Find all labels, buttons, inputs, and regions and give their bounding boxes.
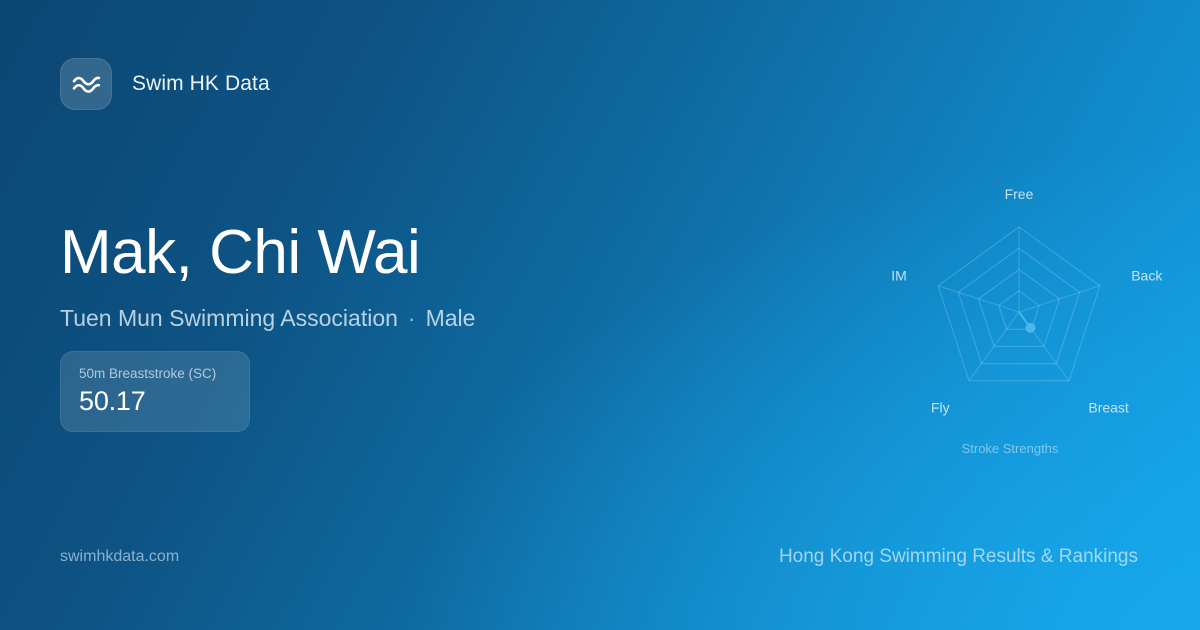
brand-lockup[interactable]: Swim HK Data [60,58,270,110]
radar-spoke [1019,286,1100,312]
radar-point-breast [1025,323,1035,333]
stroke-strengths-radar-chart: FreeBackBreastFlyIM Stroke Strengths [860,176,1160,472]
radar-label-back: Back [1131,268,1163,284]
radar-data-points [1025,323,1035,333]
page-title: Mak, Chi Wai [60,222,475,284]
og-card: Swim HK Data Mak, Chi Wai Tuen Mun Swimm… [0,0,1200,630]
wave-icon [60,58,112,110]
athlete-club: Tuen Mun Swimming Association [60,305,398,331]
radar-label-fly: Fly [931,399,950,415]
radar-label-free: Free [1005,186,1034,202]
radar-label-im: IM [891,268,907,284]
radar-spoke [938,286,1019,312]
footer-site-url[interactable]: swimhkdata.com [60,548,179,566]
headline-block: Mak, Chi Wai Tuen Mun Swimming Associati… [60,222,475,331]
stat-card-value: 50.17 [79,388,231,415]
stat-card-label: 50m Breaststroke (SC) [79,366,231,381]
athlete-meta: Tuen Mun Swimming Association·Male [60,306,475,331]
radar-caption: Stroke Strengths [860,441,1160,456]
footer-tagline: Hong Kong Swimming Results & Rankings [779,546,1138,568]
meta-separator: · [398,305,426,331]
radar-label-breast: Breast [1088,399,1129,415]
athlete-gender: Male [426,305,476,331]
brand-name: Swim HK Data [132,72,270,96]
radar-svg: FreeBackBreastFlyIM [860,176,1160,472]
stat-card[interactable]: 50m Breaststroke (SC) 50.17 [60,351,250,432]
